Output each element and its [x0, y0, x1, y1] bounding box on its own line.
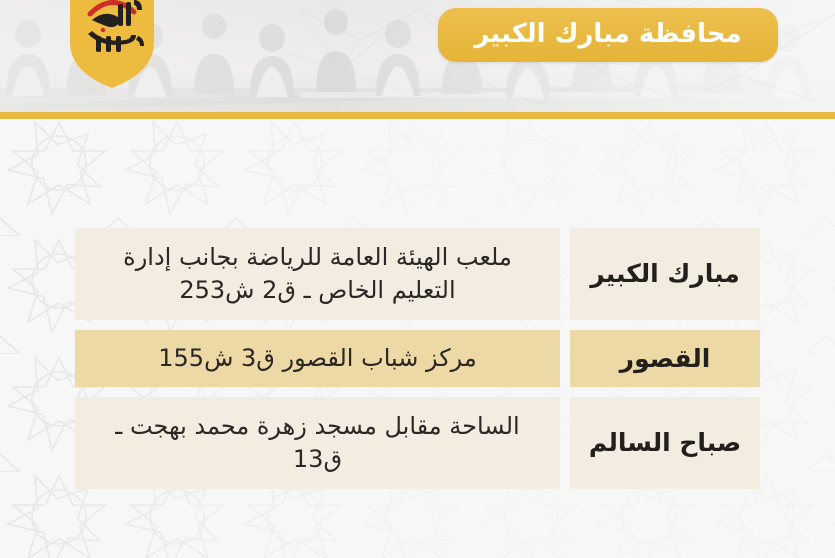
area-name: صباح السالم	[589, 427, 741, 458]
area-name: مبارك الكبير	[590, 258, 740, 289]
mosque-logo	[68, 0, 156, 90]
governorate-title-badge: محافظة مبارك الكبير	[438, 8, 778, 62]
table-cell-location: الساحة مقابل مسجد زهرة محمد بهجت ـ ق13	[75, 397, 560, 489]
location-description: الساحة مقابل مسجد زهرة محمد بهجت ـ ق13	[93, 410, 542, 476]
table-cell-location: مركز شباب القصور ق3 ش155	[75, 330, 560, 387]
governorate-title-text: محافظة مبارك الكبير	[474, 21, 741, 49]
table-row: مبارك الكبير ملعب الهيئة العامة للرياضة …	[0, 228, 835, 320]
table-cell-location: ملعب الهيئة العامة للرياضة بجانب إدارة ا…	[75, 228, 560, 320]
area-name: القصور	[620, 343, 711, 374]
location-description: مركز شباب القصور ق3 ش155	[158, 342, 476, 375]
table-row: صباح السالم الساحة مقابل مسجد زهرة محمد …	[0, 397, 835, 489]
table-cell-area: القصور	[570, 330, 760, 387]
location-description: ملعب الهيئة العامة للرياضة بجانب إدارة ا…	[93, 241, 542, 307]
infographic-page: محافظة مبارك الكبير مبارك الكبير ملعب ال…	[0, 0, 835, 558]
table-cell-area: صباح السالم	[570, 397, 760, 489]
gold-divider	[0, 112, 835, 119]
locations-table: مبارك الكبير ملعب الهيئة العامة للرياضة …	[0, 228, 835, 489]
table-cell-area: مبارك الكبير	[570, 228, 760, 320]
table-row: القصور مركز شباب القصور ق3 ش155	[0, 330, 835, 387]
